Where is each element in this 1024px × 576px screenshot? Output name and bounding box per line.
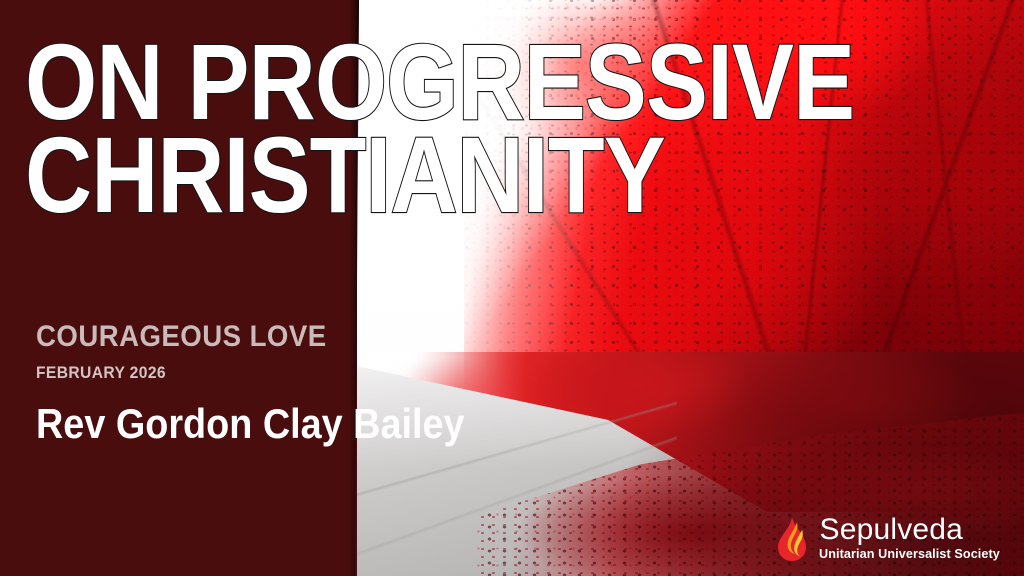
headline-line-2: CHRISTIANITY: [25, 125, 868, 224]
logo-subtitle: Unitarian Universalist Society: [819, 546, 1000, 562]
speaker-name: Rev Gordon Clay Bailey: [36, 403, 465, 445]
logo-name: Sepulveda: [819, 515, 1006, 545]
flame-chalice-icon: [776, 517, 810, 561]
sermon-title-slide: ON PROGRESSIVE CHRISTIANITY COURAGEOUS L…: [0, 0, 1024, 576]
organization-logo: Sepulveda Unitarian Universalist Society: [776, 515, 1006, 562]
series-title: COURAGEOUS LOVE: [36, 322, 474, 352]
page-title: ON PROGRESSIVE CHRISTIANITY: [25, 32, 1005, 225]
sermon-date: FEBRUARY 2026: [36, 364, 474, 381]
logo-text-lockup: Sepulveda Unitarian Universalist Society: [819, 515, 1006, 562]
sermon-meta: COURAGEOUS LOVE FEBRUARY 2026 Rev Gordon…: [36, 322, 512, 445]
